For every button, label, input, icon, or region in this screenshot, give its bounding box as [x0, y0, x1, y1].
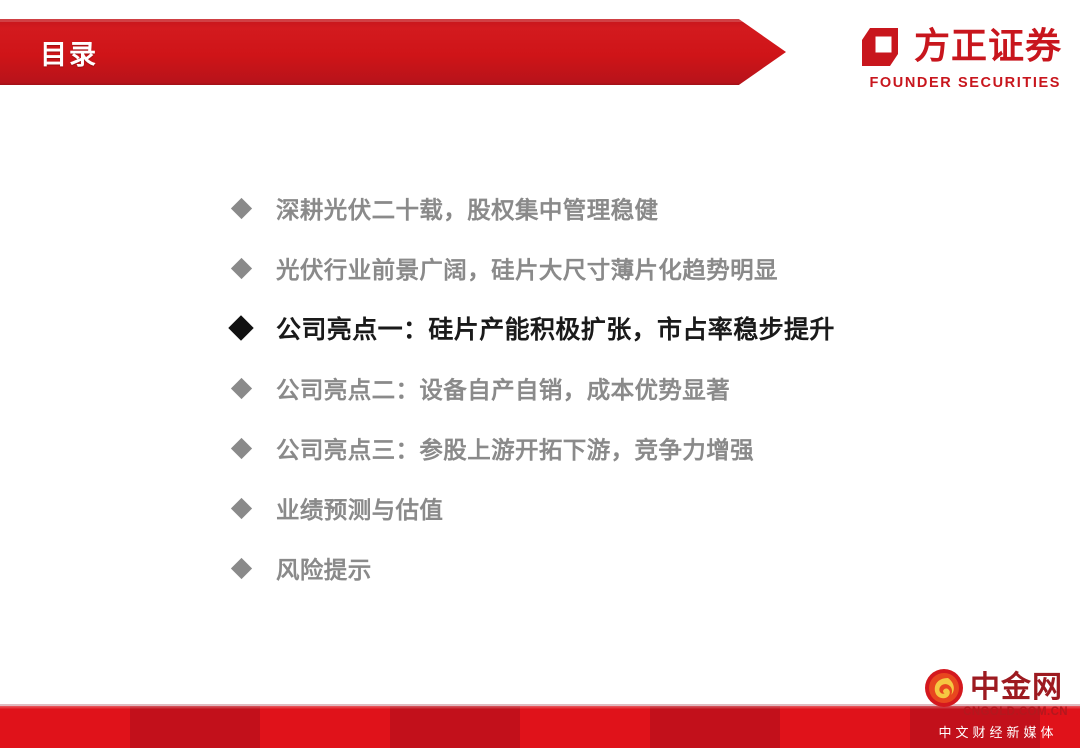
watermark-logo-row: 中金网	[924, 668, 1063, 708]
agenda-item-4[interactable]: 公司亮点二：设备自产自销，成本优势显著	[228, 358, 988, 418]
diamond-bullet-icon	[228, 495, 254, 521]
agenda-item-1[interactable]: 深耕光伏二十载，股权集中管理稳健	[228, 178, 988, 238]
brand-logo: 方正证券 FOUNDER SECURITIES	[844, 24, 1062, 91]
section-header-banner: 目录	[0, 19, 786, 85]
diamond-bullet-icon	[228, 195, 254, 221]
agenda-item-label: 业绩预测与估值	[276, 491, 443, 525]
agenda-item-label: 公司亮点三：参股上游开拓下游，竞争力增强	[276, 431, 754, 465]
agenda-item-3-active[interactable]: 公司亮点一：硅片产能积极扩张，市占率稳步提升	[228, 298, 988, 358]
slide-canvas: 目录 方正证券 FOUNDER SECURITIES 深耕光伏二十载，股权集中管…	[0, 0, 1080, 748]
banner-gloss-highlight	[0, 19, 786, 22]
agenda-item-label: 风险提示	[276, 551, 372, 585]
banner-arrow-shape	[0, 19, 786, 85]
diamond-bullet-icon	[228, 375, 254, 401]
agenda-item-label: 公司亮点一：硅片产能积极扩张，市占率稳步提升	[276, 310, 835, 346]
brand-name-en: FOUNDER SECURITIES	[869, 75, 1061, 91]
agenda-item-label: 深耕光伏二十载，股权集中管理稳健	[276, 191, 658, 225]
diamond-bullet-icon	[228, 435, 254, 461]
watermark-tagline: 中文财经新媒体	[926, 722, 1070, 741]
agenda-item-6[interactable]: 业绩预测与估值	[228, 478, 988, 538]
agenda-item-5[interactable]: 公司亮点三：参股上游开拓下游，竞争力增强	[228, 418, 988, 478]
diamond-bullet-icon	[228, 555, 254, 581]
diamond-bullet-icon	[228, 255, 254, 281]
agenda-item-7[interactable]: 风险提示	[228, 538, 988, 598]
agenda-list: 深耕光伏二十载，股权集中管理稳健 光伏行业前景广阔，硅片大尺寸薄片化趋势明显 公…	[228, 178, 988, 598]
watermark-name-cn: 中金网	[970, 673, 1063, 703]
agenda-item-label: 光伏行业前景广阔，硅片大尺寸薄片化趋势明显	[276, 251, 778, 285]
cngold-watermark: 中金网 CNGOLD.COM.CN 中文财经新媒体	[916, 666, 1076, 744]
page-title: 目录	[40, 19, 98, 85]
agenda-item-2[interactable]: 光伏行业前景广阔，硅片大尺寸薄片化趋势明显	[228, 238, 988, 298]
watermark-url: CNGOLD.COM.CN	[963, 706, 1068, 718]
brand-name-cn: 方正证券	[914, 29, 1062, 65]
founder-securities-mark-icon	[858, 24, 904, 70]
diamond-bullet-icon	[228, 315, 254, 341]
agenda-item-label: 公司亮点二：设备自产自销，成本优势显著	[276, 371, 730, 405]
cngold-swirl-icon	[924, 668, 964, 708]
brand-logo-row: 方正证券	[858, 24, 1062, 70]
